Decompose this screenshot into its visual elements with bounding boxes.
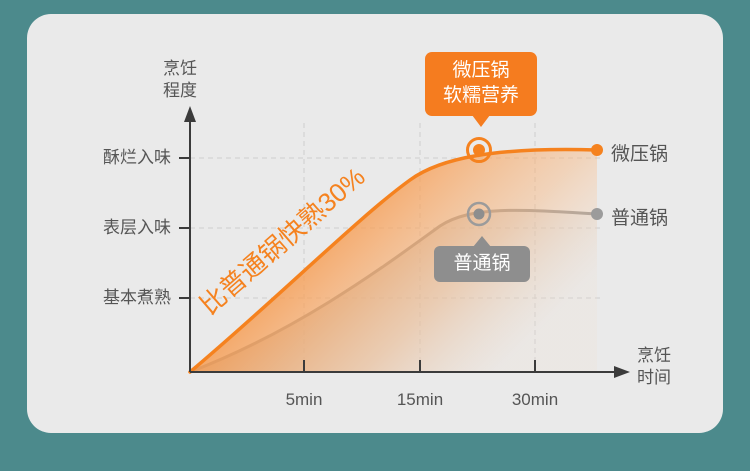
callout-line1: 微压锅 bbox=[425, 58, 537, 83]
y-axis bbox=[184, 106, 196, 372]
x-axis-title: 烹饪 时间 bbox=[637, 345, 671, 389]
x-axis-title-line2: 时间 bbox=[637, 367, 671, 389]
legend-item-ordinary-pot[interactable]: 普通锅 bbox=[611, 203, 668, 230]
x-tick-label-1: 15min bbox=[370, 390, 470, 410]
legend-endpoint-ordinary-pot bbox=[591, 208, 603, 220]
legend-endpoint-micro-pressure-pot bbox=[591, 144, 603, 156]
x-tick-label-0: 5min bbox=[254, 390, 354, 410]
y-axis-title-line2: 程度 bbox=[163, 80, 197, 102]
y-axis-title: 烹饪 程度 bbox=[163, 58, 197, 102]
callout-gray-tip-icon bbox=[473, 236, 491, 247]
callout-tip-icon bbox=[472, 115, 490, 127]
y-axis-title-line1: 烹饪 bbox=[163, 58, 197, 80]
screenshot-root: 烹饪 程度 烹饪 时间 酥烂入味 表层入味 基本煮熟 5min 15min 30… bbox=[0, 0, 750, 471]
callout-micro-pressure-pot[interactable]: 微压锅 软糯营养 bbox=[425, 52, 537, 116]
callout-ordinary-pot[interactable]: 普通锅 bbox=[434, 246, 530, 282]
chart-canvas: 烹饪 程度 烹饪 时间 酥烂入味 表层入味 基本煮熟 5min 15min 30… bbox=[0, 0, 750, 471]
legend-item-micro-pressure-pot[interactable]: 微压锅 bbox=[611, 139, 668, 166]
y-tick-label-1: 表层入味 bbox=[68, 217, 171, 239]
y-tick-label-0: 酥烂入味 bbox=[68, 147, 171, 169]
x-tick-label-2: 30min bbox=[485, 390, 585, 410]
y-tick-label-2: 基本煮熟 bbox=[68, 287, 171, 309]
callout-line2: 软糯营养 bbox=[425, 83, 537, 108]
y-axis-ticks bbox=[179, 158, 190, 298]
callout-gray-label: 普通锅 bbox=[434, 251, 530, 276]
x-axis-title-line1: 烹饪 bbox=[637, 345, 671, 367]
